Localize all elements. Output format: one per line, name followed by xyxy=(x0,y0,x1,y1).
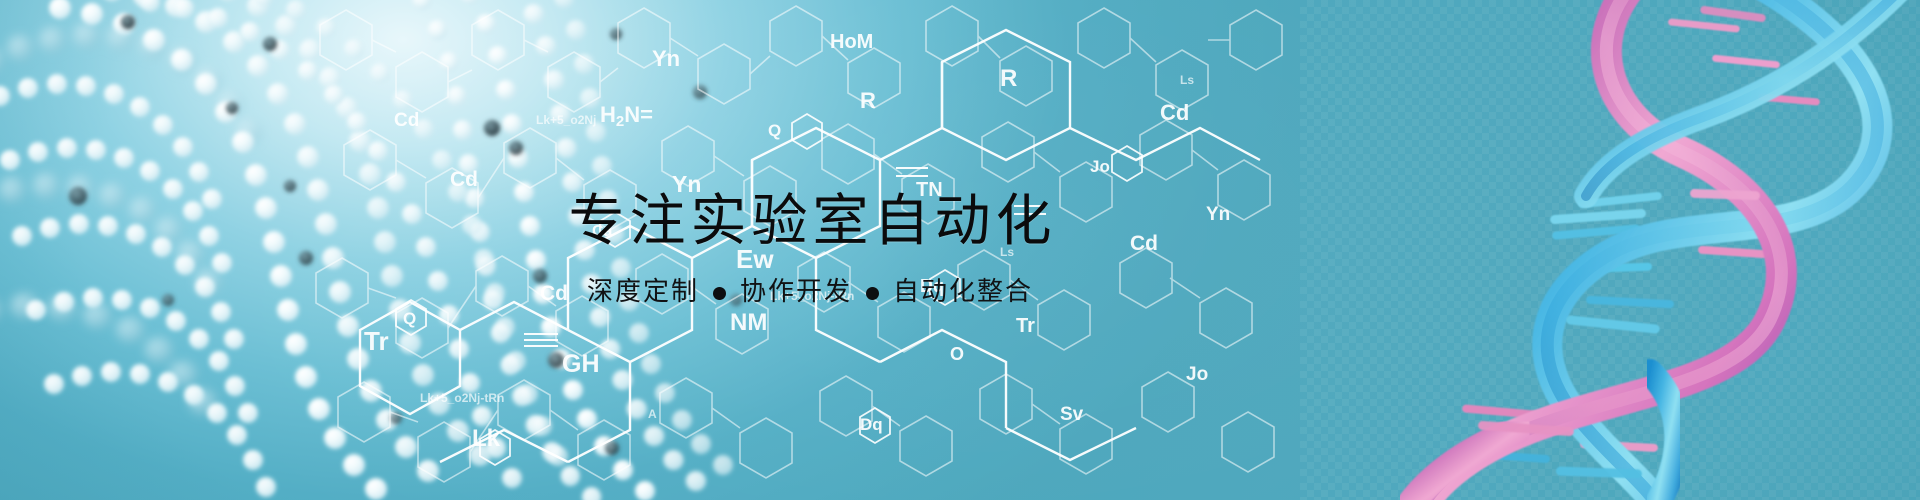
laboratory-automation-banner: .ln{stroke:#ffffff;fill:none;} .t{fill:#… xyxy=(0,0,1920,500)
subtitle-segment-2: 协作开发 xyxy=(740,277,852,308)
banner-subtitle: 深度定制 协作开发 自动化整合 xyxy=(587,277,1033,308)
subtitle-segment-1: 深度定制 xyxy=(587,277,699,308)
bullet-dot-icon xyxy=(713,287,726,300)
subtitle-segment-3: 自动化整合 xyxy=(893,277,1033,308)
page-title: 专注实验室自动化 xyxy=(564,192,1057,251)
bullet-dot-icon xyxy=(866,287,879,300)
banner-text-block: 专注实验室自动化 深度定制 协作开发 自动化整合 xyxy=(0,0,1920,500)
